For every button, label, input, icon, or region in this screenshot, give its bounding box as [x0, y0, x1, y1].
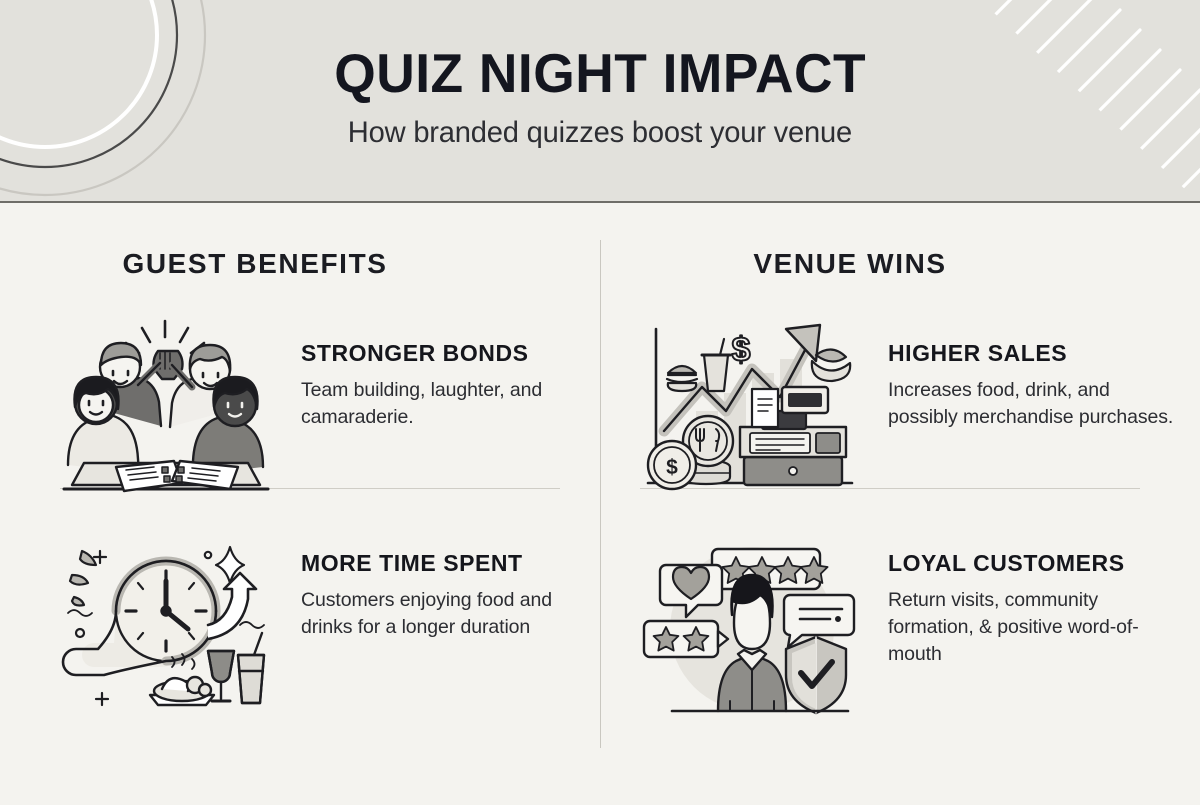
card-loyal-customers: LOYAL CUSTOMERS Return visits, community…: [600, 533, 1200, 718]
card-text-loyal-customers: LOYAL CUSTOMERS Return visits, community…: [888, 533, 1178, 668]
customer-reviews-shield-icon: [640, 533, 860, 718]
card-title: MORE TIME SPENT: [301, 549, 571, 578]
card-description: Team building, laughter, and camaraderie…: [301, 377, 571, 430]
card-stronger-bonds: STRONGER BONDS Team building, laughter, …: [0, 315, 600, 495]
card-title: LOYAL CUSTOMERS: [888, 549, 1178, 578]
column-venue-wins: VENUE WINS: [600, 203, 1200, 805]
column-heading-guest-benefits: GUEST BENEFITS: [0, 248, 600, 280]
cash-register-growth-chart-icon: $: [640, 315, 860, 500]
card-text-higher-sales: HIGHER SALES Increases food, drink, and …: [888, 315, 1178, 431]
svg-text:$: $: [666, 456, 678, 479]
content-area: GUEST BENEFITS: [0, 203, 1200, 805]
card-title: STRONGER BONDS: [301, 339, 571, 368]
page-title: QUIZ NIGHT IMPACT: [334, 45, 866, 103]
card-higher-sales: $: [600, 315, 1200, 500]
card-description: Customers enjoying food and drinks for a…: [301, 587, 571, 640]
people-high-five-icon: [58, 315, 273, 495]
page-subtitle: How branded quizzes boost your venue: [348, 116, 852, 150]
column-heading-venue-wins: VENUE WINS: [600, 248, 1200, 280]
card-title: HIGHER SALES: [888, 339, 1178, 368]
card-text-stronger-bonds: STRONGER BONDS Team building, laughter, …: [301, 315, 571, 431]
card-description: Increases food, drink, and possibly merc…: [888, 377, 1178, 430]
clock-arrow-food-icon: [58, 533, 273, 713]
column-guest-benefits: GUEST BENEFITS: [0, 203, 600, 805]
header-banner: QUIZ NIGHT IMPACT How branded quizzes bo…: [0, 0, 1200, 203]
svg-text:$: $: [732, 331, 751, 369]
card-text-more-time-spent: MORE TIME SPENT Customers enjoying food …: [301, 533, 571, 641]
card-description: Return visits, community formation, & po…: [888, 587, 1178, 667]
infographic-page: QUIZ NIGHT IMPACT How branded quizzes bo…: [0, 0, 1200, 805]
card-more-time-spent: MORE TIME SPENT Customers enjoying food …: [0, 533, 600, 713]
